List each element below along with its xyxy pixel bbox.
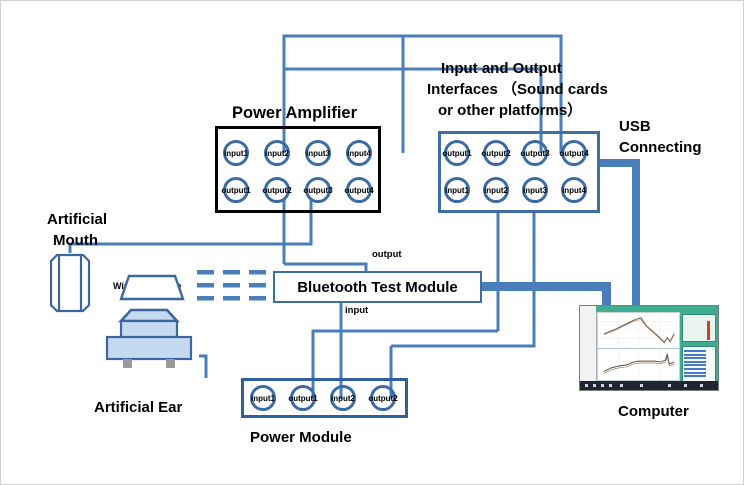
computer-label: Computer xyxy=(618,403,689,420)
diagram-canvas: Power Amplifier input1 input2 input3 inp… xyxy=(0,0,744,485)
artificial-ear-icon xyxy=(99,307,199,369)
io-label-input4: input4 xyxy=(553,186,595,195)
pa-label-input1: input1 xyxy=(215,149,257,158)
screen-level-meter xyxy=(707,321,710,340)
bluetooth-output-label: output xyxy=(372,250,402,261)
wireless-device-icon xyxy=(111,273,193,301)
pa-label-input2: input2 xyxy=(256,149,298,158)
artificial-mouth-label-line2: Mouth xyxy=(53,232,98,249)
wire-pa-to-bt-output xyxy=(284,264,366,271)
cable-usb-vertical xyxy=(632,159,640,309)
screen-bar-item xyxy=(684,354,706,356)
pa-label-output4: output4 xyxy=(335,186,383,195)
bluetooth-test-module-box: Bluetooth Test Module xyxy=(273,271,482,303)
power-amplifier-title: Power Amplifier xyxy=(232,104,357,123)
bluetooth-test-module-title: Bluetooth Test Module xyxy=(297,279,458,296)
computer-monitor[interactable] xyxy=(579,305,719,391)
screen-bar-item xyxy=(684,357,706,359)
screen-bar-item xyxy=(684,364,706,366)
screen-bar-item xyxy=(684,350,706,352)
usb-label-line2: Connecting xyxy=(619,139,702,156)
screen-bar-list xyxy=(684,350,706,380)
screen-bar-item xyxy=(684,372,706,374)
screen-bar-item xyxy=(684,375,706,377)
pa-label-input4: input4 xyxy=(338,149,380,158)
pm-label-output1: output1 xyxy=(279,394,327,403)
screen-sidebar xyxy=(580,306,597,390)
screen-plot-divider xyxy=(598,348,679,349)
screen-bar-item xyxy=(684,361,706,363)
io-interfaces-title-line1: Input and Output xyxy=(441,60,562,77)
io-interfaces-title-line3: or other platforms） xyxy=(438,102,582,119)
bluetooth-input-label: input xyxy=(345,306,368,317)
io-label-input2: input2 xyxy=(475,186,517,195)
io-label-output4: output4 xyxy=(550,149,598,158)
pa-label-input3: input3 xyxy=(297,149,339,158)
usb-label-line1: USB xyxy=(619,118,651,135)
wire-ear-to-pm-in1 xyxy=(199,356,206,378)
pm-label-input1: input1 xyxy=(242,394,284,403)
screen-bar-item xyxy=(684,368,706,370)
io-interfaces-title-line2: Interfaces （Sound cards xyxy=(427,81,608,98)
artificial-mouth-label-line1: Artificial xyxy=(47,211,107,228)
pm-label-output2: output2 xyxy=(359,394,407,403)
io-label-input3: input3 xyxy=(514,186,556,195)
pm-label-input2: input2 xyxy=(322,394,364,403)
screen-status-bar xyxy=(580,381,718,390)
screen-readout-panel xyxy=(682,314,716,342)
artificial-mouth-icon xyxy=(49,253,91,313)
cable-bt-to-computer-horizontal xyxy=(482,282,611,291)
screen-measurement-curves xyxy=(598,313,679,380)
wireless-signal-dashes xyxy=(197,268,277,304)
power-module-title: Power Module xyxy=(250,429,352,446)
artificial-ear-label: Artificial Ear xyxy=(94,399,182,416)
screen-right-panel xyxy=(680,312,718,381)
screen-plot-area xyxy=(597,312,680,381)
io-label-input1: input1 xyxy=(436,186,478,195)
